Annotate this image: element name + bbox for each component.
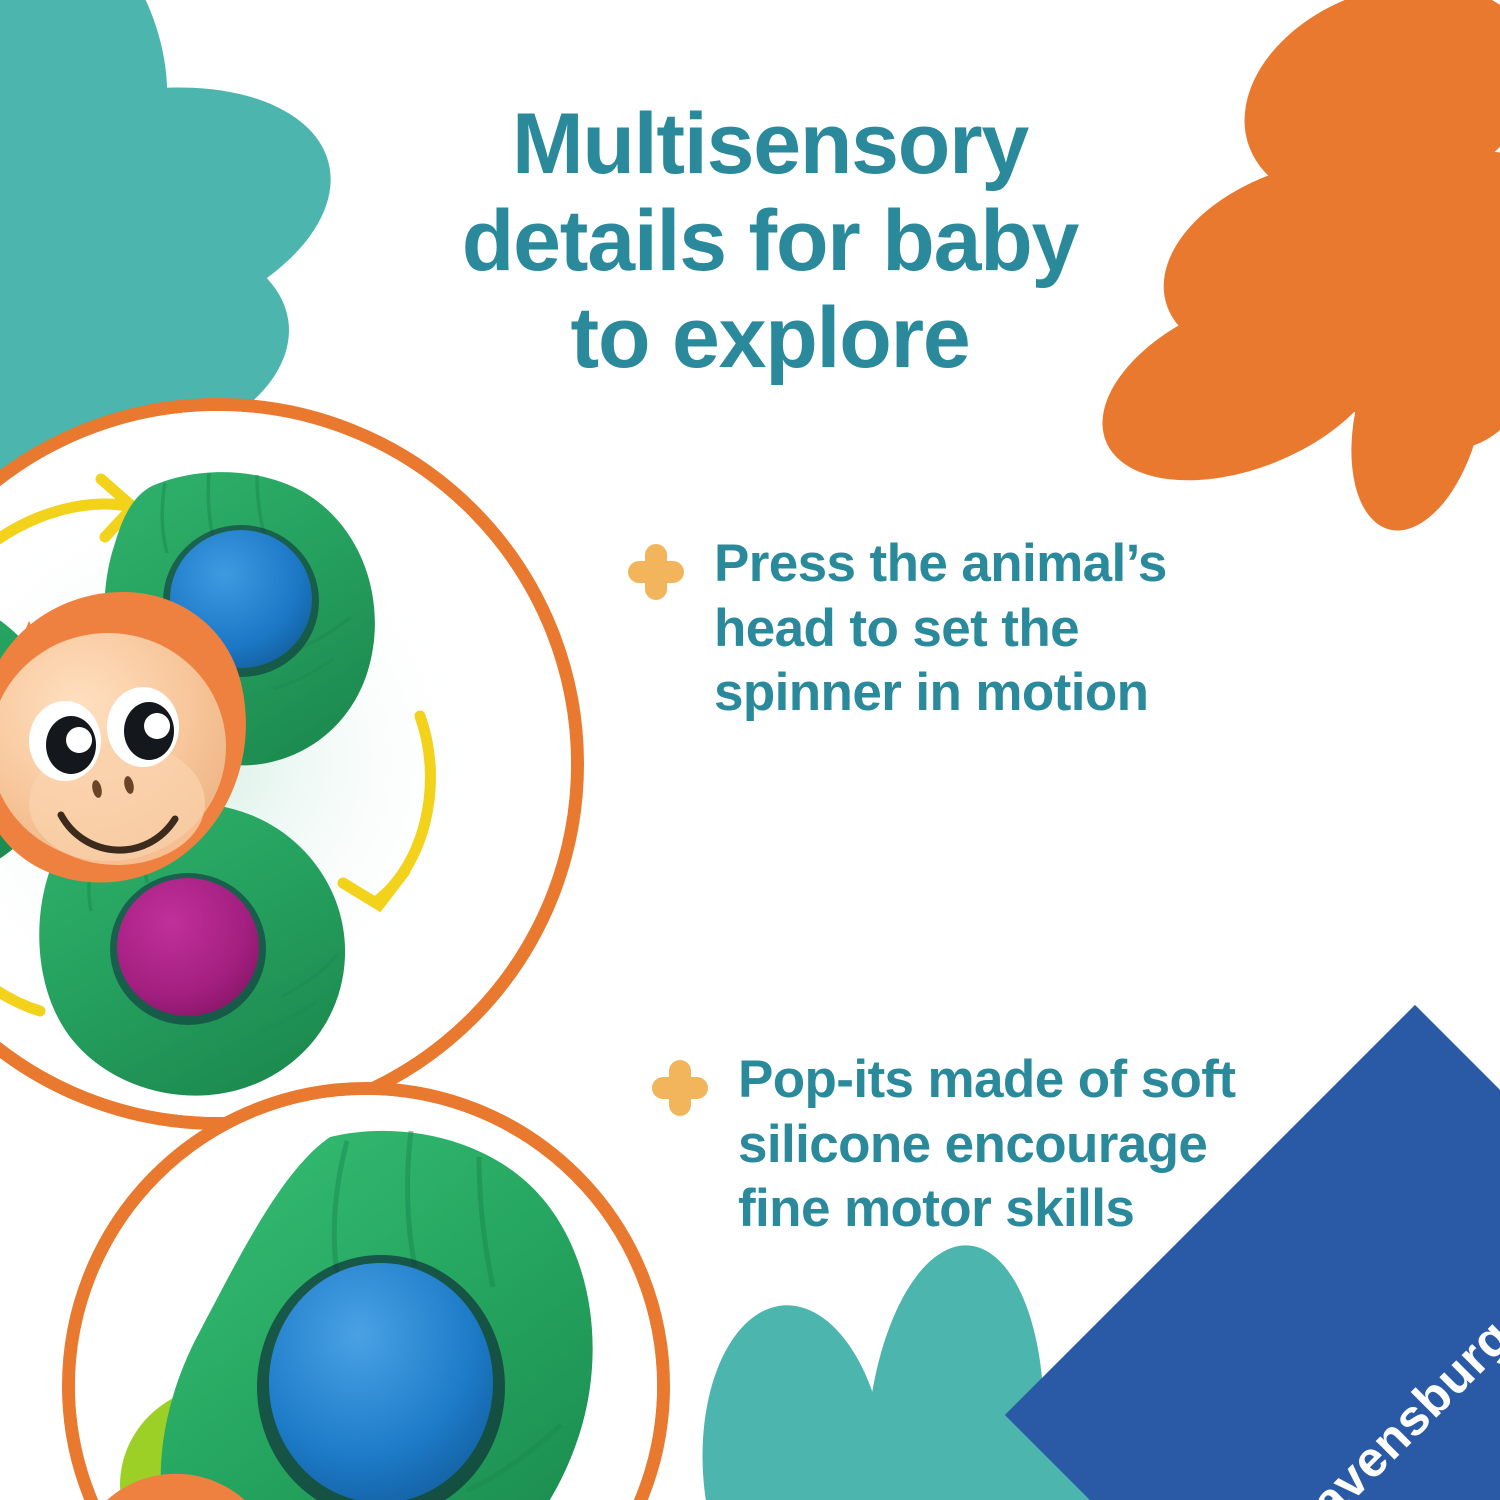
- product-feature-graphic: Multisensory details for baby to explore…: [0, 0, 1500, 1500]
- plus-icon: [652, 1060, 708, 1116]
- page-title: Multisensory details for baby to explore: [360, 96, 1180, 388]
- popit-blue: [269, 1263, 493, 1500]
- product-photo-spinner: [0, 398, 584, 1130]
- product-photo-popit-closeup: [62, 1082, 670, 1500]
- feature-bullet-2-label: Pop-its made of soft silicone encourage …: [738, 1048, 1235, 1242]
- brand-name: Ravensburger: [1189, 1189, 1500, 1500]
- feature-bullet-1-label: Press the animal’s head to set the spinn…: [714, 532, 1167, 726]
- plus-icon: [628, 544, 684, 600]
- feature-bullet-1: Press the animal’s head to set the spinn…: [628, 532, 1348, 726]
